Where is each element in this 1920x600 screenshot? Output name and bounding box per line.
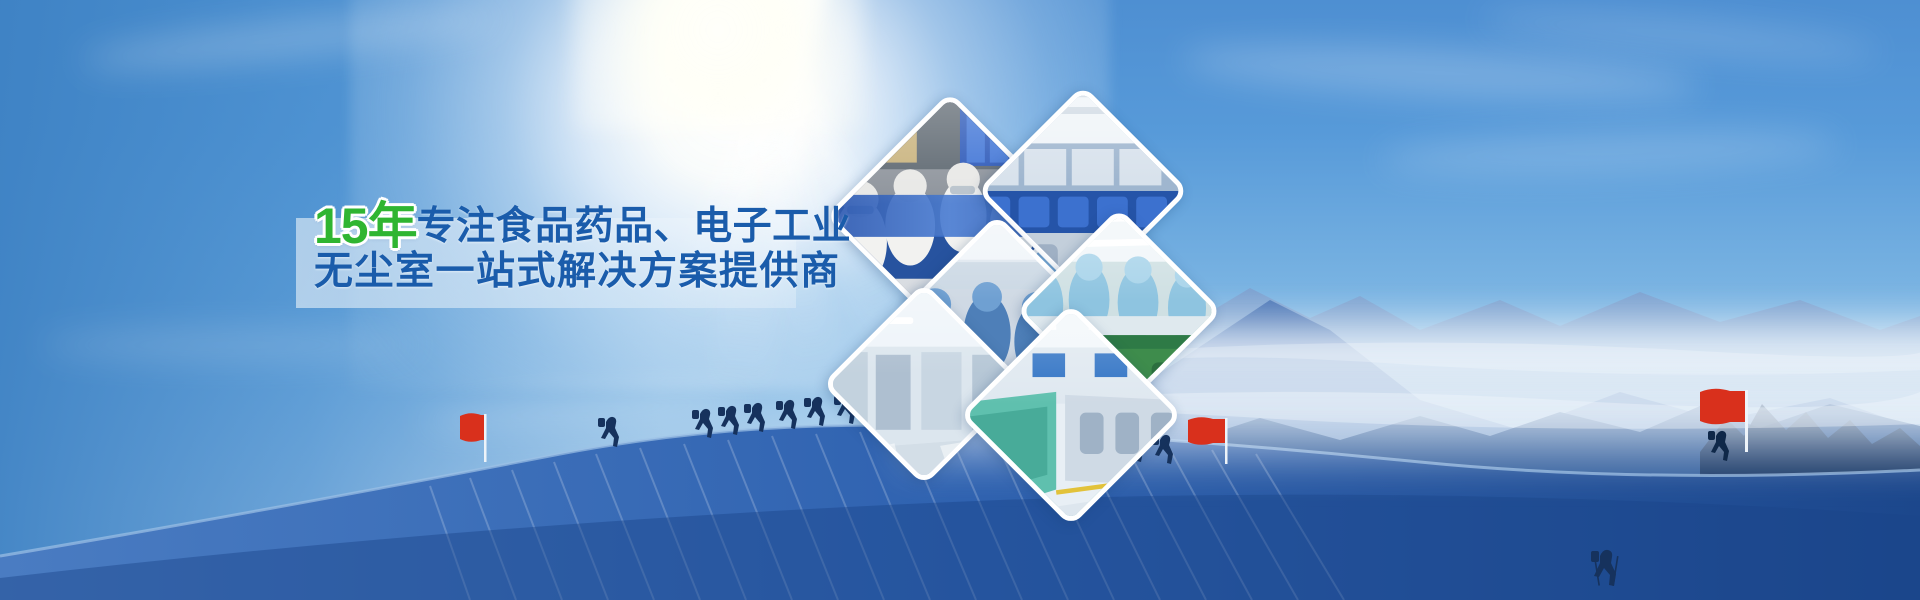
- climber-silhouette: [718, 406, 739, 435]
- climber-silhouette: [1708, 431, 1729, 461]
- climber-silhouette: [692, 409, 713, 438]
- climber-silhouette: [598, 417, 619, 447]
- headline-block: 15年专注食品药品、电子工业 无尘室一站式解决方案提供商: [314, 204, 834, 293]
- diamond-photo-collage: [840, 90, 1280, 470]
- headline-line-1: 15年专注食品药品、电子工业: [314, 204, 834, 249]
- years-badge: 15年: [314, 198, 417, 254]
- climber-silhouette: [776, 400, 797, 429]
- climber-silhouette: [744, 403, 765, 432]
- headline-line-2: 无尘室一站式解决方案提供商: [314, 252, 834, 293]
- climber-silhouette: [804, 397, 825, 426]
- climber-silhouette: [1591, 550, 1619, 586]
- headline-line-1-rest: 专注食品药品、电子工业: [417, 205, 852, 248]
- red-flag-icon: [460, 413, 487, 462]
- hero-banner: 15年专注食品药品、电子工业 无尘室一站式解决方案提供商: [0, 0, 1920, 600]
